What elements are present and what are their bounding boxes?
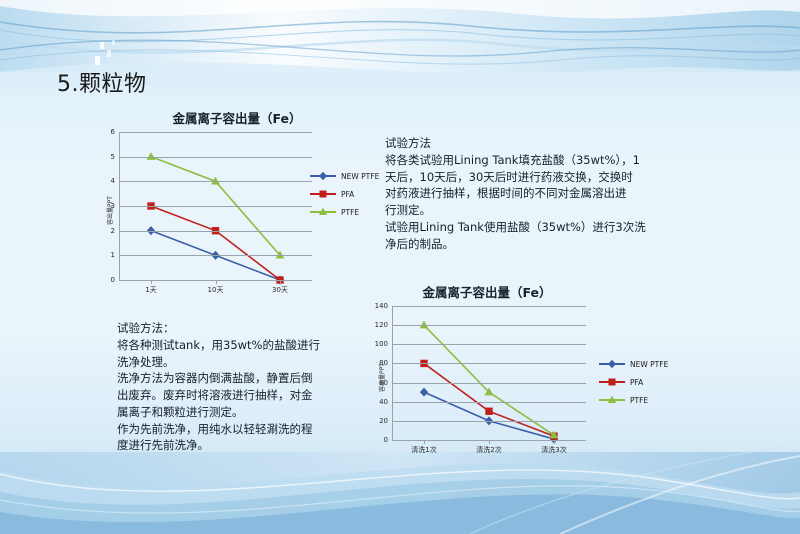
y-axis-tick-label: 0 <box>384 436 388 444</box>
y-axis-tick-label: 1 <box>111 251 115 259</box>
gridline <box>392 325 586 326</box>
y-axis-tick-label: 40 <box>379 398 388 406</box>
description-line: 将各种测试tank，用35wt%的盐酸进行 <box>117 337 387 354</box>
y-axis-tick-label: 140 <box>375 302 388 310</box>
legend-item: PTFE <box>599 394 668 406</box>
chart-metal-ion-elution-washes: 金属离子容出量（Fe） 020406080100120140清洗1次清洗2次清洗… <box>362 282 692 467</box>
legend-label: NEW PTFE <box>341 172 379 181</box>
chart1-plot-area: 01234561天10天30天容出量PPT <box>119 132 312 280</box>
description-line: 对药液进行抽样，根据时间的不同对金属溶出进 <box>385 185 715 202</box>
y-axis-label: 容出量PPT <box>105 196 114 225</box>
data-point-marker <box>420 388 427 396</box>
gridline <box>392 344 586 345</box>
legend-item: PTFE <box>310 206 379 218</box>
y-axis-tick-label: 0 <box>111 276 115 284</box>
chart2-plot-area: 020406080100120140清洗1次清洗2次清洗3次容出量PPT <box>392 306 586 440</box>
gridline <box>119 255 312 256</box>
description-line: 净后的制品。 <box>385 236 715 253</box>
legend-marker-square-icon <box>310 188 336 200</box>
description-line: 属离子和颗粒进行测定。 <box>117 404 387 421</box>
x-axis-tick <box>280 280 281 284</box>
chart-metal-ion-elution-days: 金属离子容出量（Fe） 01234561天10天30天容出量PPT NEW PT… <box>92 108 382 298</box>
series-line <box>424 392 554 439</box>
legend-label: PFA <box>630 378 643 387</box>
description-line: 试验用Lining Tank使用盐酸（35wt%）进行3次洗 <box>385 219 715 236</box>
description-line: 行测定。 <box>385 202 715 219</box>
description-line: 度进行先前洗净。 <box>117 437 387 454</box>
legend-label: PTFE <box>630 396 648 405</box>
gridline <box>392 363 586 364</box>
chart2-title: 金属离子容出量（Fe） <box>362 282 612 301</box>
y-axis-tick-label: 4 <box>111 177 115 185</box>
gridline <box>119 206 312 207</box>
legend-label: PTFE <box>341 208 359 217</box>
x-axis-tick-label: 10天 <box>208 285 224 295</box>
x-axis-tick <box>554 440 555 444</box>
y-axis-tick-label: 6 <box>111 128 115 136</box>
description-line: 天后，10天后，30天后时进行药液交换，交换时 <box>385 169 715 186</box>
gridline <box>119 181 312 182</box>
x-axis-tick <box>424 440 425 444</box>
gridline <box>392 306 586 307</box>
description-line: 作为先前洗净，用纯水以轻轻涮洗的程 <box>117 421 387 438</box>
y-axis-tick-label: 2 <box>111 227 115 235</box>
x-axis-tick-label: 30天 <box>272 285 288 295</box>
series-line <box>151 206 280 280</box>
y-axis-tick-label: 5 <box>111 153 115 161</box>
description-line: 洗净方法为容器内倒满盐酸，静置后倒 <box>117 370 387 387</box>
chart1-legend: NEW PTFEPFAPTFE <box>310 170 379 224</box>
x-axis-tick-label: 1天 <box>145 285 156 295</box>
test-method-description-right: 试验方法将各类试验用Lining Tank填充盐酸（35wt%），1天后，10天… <box>385 135 715 252</box>
legend-item: PFA <box>599 376 668 388</box>
y-axis-tick-label: 100 <box>375 340 388 348</box>
test-method-description-left: 试验方法：将各种测试tank，用35wt%的盐酸进行洗净处理。洗净方法为容器内倒… <box>117 320 387 454</box>
x-axis-tick-label: 清洗2次 <box>476 445 501 455</box>
chart1-title: 金属离子容出量（Fe） <box>92 108 382 127</box>
gridline <box>119 132 312 133</box>
chart2-legend: NEW PTFEPFAPTFE <box>599 358 668 412</box>
description-line: 出废弃。废弃时将溶液进行抽样，对金 <box>117 387 387 404</box>
x-axis-tick-label: 清洗1次 <box>411 445 436 455</box>
x-axis-tick <box>489 440 490 444</box>
data-point-marker <box>486 408 493 415</box>
x-axis-tick <box>216 280 217 284</box>
y-axis-tick-label: 20 <box>379 417 388 425</box>
y-axis-label: 容出量PPT <box>377 363 386 392</box>
legend-label: PFA <box>341 190 354 199</box>
legend-marker-triangle-icon <box>310 206 336 218</box>
legend-marker-triangle-icon <box>599 394 625 406</box>
description-line: 试验方法： <box>117 320 387 337</box>
legend-marker-square-icon <box>599 376 625 388</box>
gridline <box>119 157 312 158</box>
legend-item: PFA <box>310 188 379 200</box>
legend-item: NEW PTFE <box>310 170 379 182</box>
slide-canvas: 5.颗粒物 金属离子容出量（Fe） 01234561天10天30天容出量PPT … <box>0 0 800 534</box>
legend-marker-diamond-icon <box>310 170 336 182</box>
description-line: 洗净处理。 <box>117 354 387 371</box>
x-axis-tick <box>151 280 152 284</box>
gridline <box>392 402 586 403</box>
gridline <box>392 421 586 422</box>
legend-marker-diamond-icon <box>599 358 625 370</box>
gridline <box>392 383 586 384</box>
description-line: 试验方法 <box>385 135 715 152</box>
x-axis-tick-label: 清洗3次 <box>541 445 566 455</box>
description-line: 将各类试验用Lining Tank填充盐酸（35wt%），1 <box>385 152 715 169</box>
page-title: 5.颗粒物 <box>57 66 147 98</box>
y-axis-tick-label: 120 <box>375 321 388 329</box>
gridline <box>119 231 312 232</box>
legend-label: NEW PTFE <box>630 360 668 369</box>
legend-item: NEW PTFE <box>599 358 668 370</box>
